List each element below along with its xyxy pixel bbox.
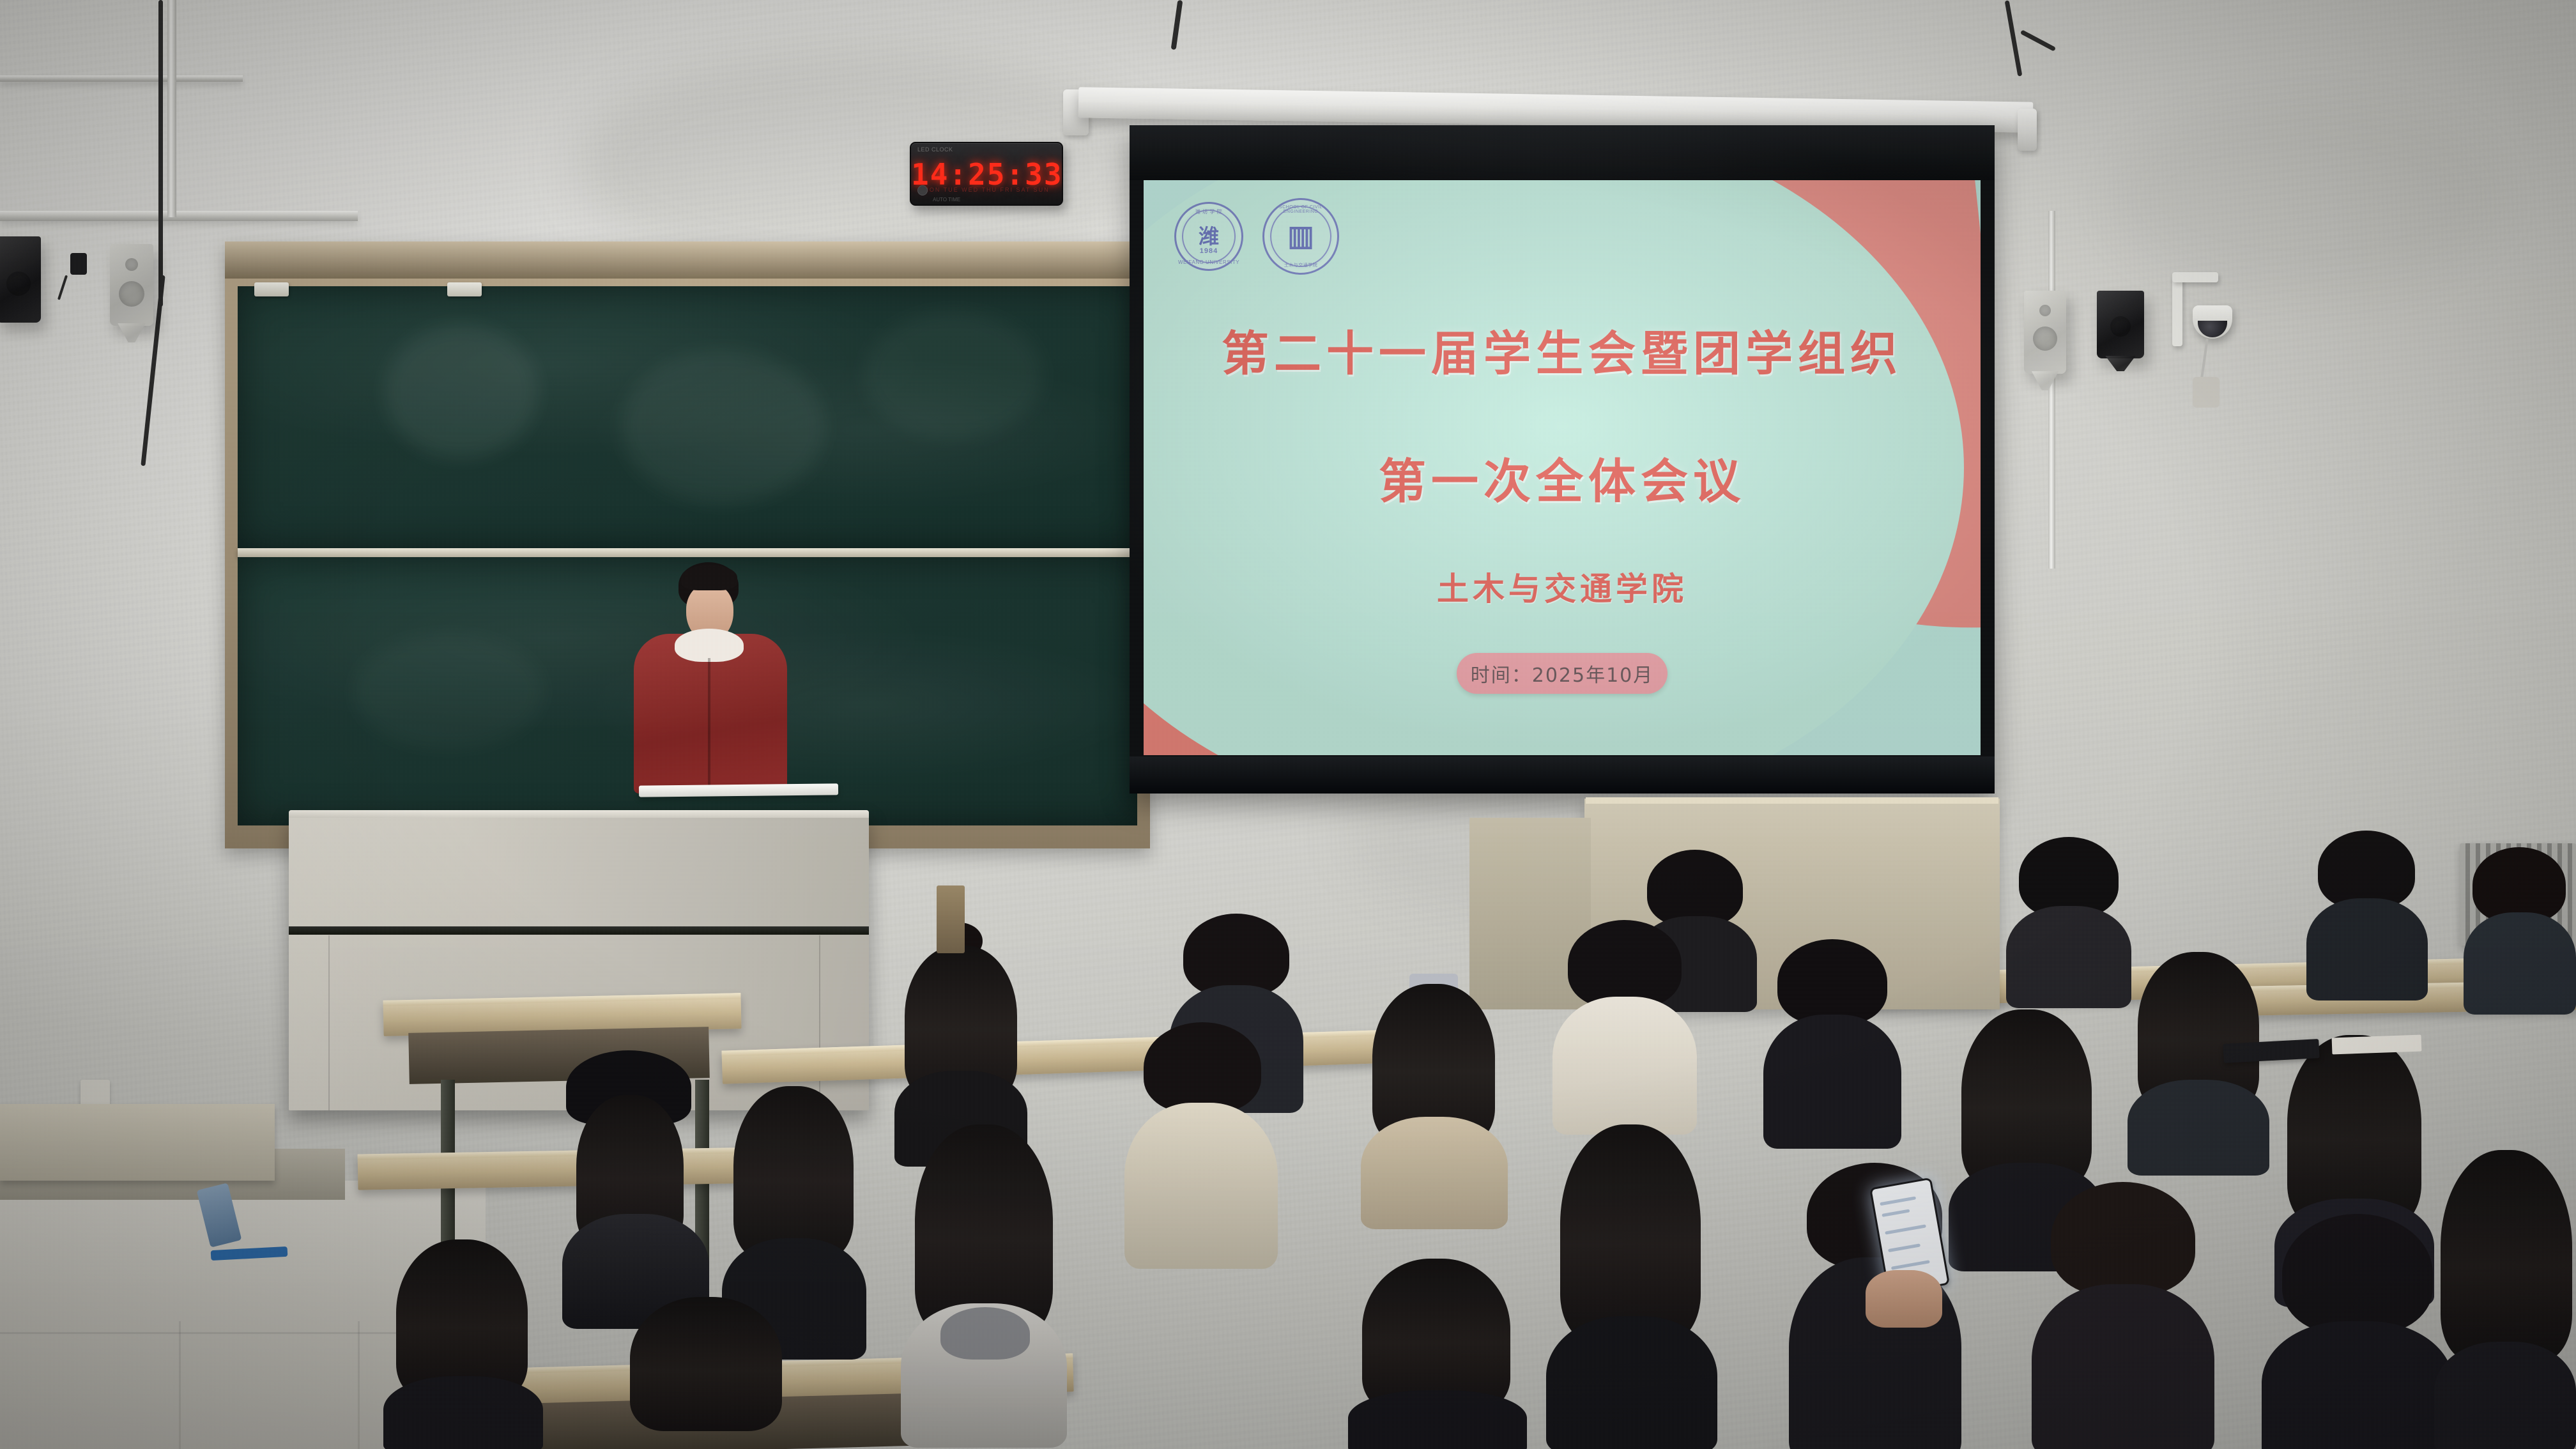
torso-tan (1361, 1117, 1508, 1229)
speaker-left-dark (0, 236, 41, 323)
phone-content-line (1891, 1260, 1930, 1269)
wooden-post (937, 885, 965, 953)
clock-brand-label: LED CLOCK (917, 146, 953, 153)
wall-conduit-upper (0, 75, 243, 82)
civil-transport-college-emblem: SCHOOL OF CIVIL ENGINEERING ▥ 土木与交通学院 (1262, 198, 1339, 275)
emblem-year: 1984 (1176, 247, 1241, 255)
emblem-top-text: SCHOOL OF CIVIL ENGINEERING (1264, 205, 1337, 214)
audience-member (2032, 1182, 2214, 1449)
screen-bottom-band (1130, 756, 1995, 793)
audience-member (1124, 1022, 1278, 1265)
hair (1647, 850, 1743, 926)
speaker-right-light (2024, 291, 2066, 374)
speaker-left-light (110, 244, 153, 326)
screen-roller-cap-right (2018, 109, 2037, 151)
presenter-hood (675, 629, 744, 662)
slide-canvas: 潍 坊 学 院 潍 1984 WEIFANG UNIVERSITY SCHOOL… (1144, 180, 1981, 755)
long-hair (2441, 1150, 2572, 1361)
long-hair (396, 1239, 528, 1399)
hoodie-hood (940, 1307, 1030, 1360)
long-hair (733, 1086, 854, 1259)
speaker-woofer (2033, 326, 2057, 351)
chalk-residue (385, 325, 538, 459)
wall-digital-clock: LED CLOCK 14:25:33 MON TUE WED THU FRI S… (910, 142, 1063, 206)
torso (2032, 1284, 2214, 1449)
floor-tile-line (358, 1321, 360, 1449)
emblem-glyph: 潍 (1199, 226, 1219, 247)
audience-member (2006, 837, 2131, 997)
hair (1777, 939, 1887, 1025)
chalk-residue (621, 350, 825, 503)
torso (383, 1376, 543, 1449)
podium-top-edge (289, 810, 869, 818)
torso (2434, 1342, 2576, 1449)
podium-panel-seam-right (819, 935, 820, 1110)
stage-side-panel-seam (1586, 797, 1998, 804)
blackboard-clip-mid (447, 282, 482, 296)
torso (1546, 1316, 1717, 1449)
slide-date-badge: 时间：2025年10月 (1457, 653, 1667, 694)
presenter-zipper (708, 658, 710, 792)
podium-laptop (639, 783, 838, 797)
long-hair (2287, 1035, 2421, 1227)
torso (2127, 1080, 2269, 1176)
podium-panel-seam (328, 935, 330, 1110)
chalk-residue (353, 634, 544, 749)
wall-conduit-vertical-right (2048, 211, 2055, 569)
torso-white-hoodie (1552, 997, 1697, 1135)
slide-title: 第二十一届学生会暨团学组织 (1144, 316, 1981, 384)
phone-content-line (1880, 1196, 1916, 1206)
audience-member (1546, 1124, 1717, 1449)
audience-member (2262, 1214, 2453, 1449)
audience-member (613, 1297, 799, 1449)
presenter-at-podium (620, 562, 799, 792)
weifang-university-emblem: 潍 坊 学 院 潍 1984 WEIFANG UNIVERSITY (1174, 202, 1243, 271)
hair (1144, 1022, 1261, 1113)
blackboard-top-rail (225, 241, 1150, 279)
wall-conduit-top (0, 211, 358, 221)
torso (1763, 1015, 1901, 1149)
torso (1348, 1390, 1527, 1449)
audience-member (1348, 1259, 1527, 1449)
audience-member (901, 1124, 1067, 1444)
wall-conduit-vertical-left (167, 0, 176, 217)
torso (2262, 1321, 2453, 1449)
slide-organization: 土木与交通学院 (1144, 563, 1981, 609)
long-hair (630, 1297, 782, 1431)
hanging-cable-left (158, 0, 163, 307)
audience-member (1763, 939, 1901, 1144)
emblem-top-text: 潍 坊 学 院 (1176, 208, 1241, 215)
hair (2318, 831, 2415, 908)
audience-member (2464, 847, 2576, 1000)
blackboard-clip-left (254, 282, 289, 296)
floor-step-riser (0, 1104, 275, 1181)
audience-member-with-cap (562, 1054, 709, 1322)
hand-holding-phone (1866, 1270, 1942, 1328)
hair (1183, 914, 1289, 997)
speaker-power-brick-left (70, 253, 87, 275)
chalk-residue (864, 312, 1043, 440)
long-hair (1961, 1009, 2092, 1188)
torso (2006, 906, 2131, 1008)
camera-junction-box (2193, 377, 2219, 408)
presentation-slide: 潍 坊 学 院 潍 1984 WEIFANG UNIVERSITY SCHOOL… (1144, 180, 1981, 755)
speaker-right-dark (2097, 291, 2144, 358)
blackboard-panel-upper (238, 286, 1137, 548)
clock-weekday-labels: MON TUE WED THU FRI SAT SUN (911, 187, 1062, 193)
torso-beige (1124, 1103, 1278, 1269)
desk-papers (2332, 1035, 2422, 1055)
screen-top-band (1130, 125, 1995, 180)
presenter-hair-front (681, 565, 737, 590)
hair (2472, 847, 2566, 923)
slide-subtitle: 第一次全体会议 (1144, 443, 1981, 512)
speaker-woofer (119, 281, 144, 307)
speaker-cone (6, 272, 31, 296)
audience-member (1552, 920, 1697, 1131)
emblem-ring-text: 土木与交通学院 (1264, 262, 1337, 268)
wall-stain-3 (2108, 102, 2504, 294)
emblem-glyph: ▥ (1287, 222, 1314, 250)
phone-content-line (1885, 1224, 1926, 1234)
audience-member (383, 1239, 543, 1449)
hair (2051, 1182, 2195, 1296)
speaker-cone (2110, 316, 2131, 337)
floor-tile-line (179, 1321, 181, 1449)
audience-member (2434, 1150, 2576, 1449)
speaker-tweeter (125, 258, 138, 271)
long-hair (1560, 1124, 1701, 1342)
clock-footer-label: AUTO TIME (933, 197, 960, 203)
emblem-ring-text: WEIFANG UNIVERSITY (1176, 259, 1241, 265)
torso (2306, 898, 2428, 1000)
hair (1568, 920, 1682, 1008)
torso (2464, 912, 2576, 1015)
podium-trim-band (289, 926, 869, 935)
lecture-hall-photo: 潍 坊 学 院 潍 1984 WEIFANG UNIVERSITY SCHOOL… (0, 0, 2576, 1449)
long-hair (1362, 1259, 1510, 1412)
phone-content-line (1888, 1243, 1920, 1252)
audience-member (1361, 984, 1508, 1227)
speaker-tweeter (2039, 305, 2051, 316)
clock-sensor-icon (917, 185, 928, 195)
blackboard-chalk-ledge (238, 548, 1137, 557)
projection-screen: 潍 坊 学 院 潍 1984 WEIFANG UNIVERSITY SCHOOL… (1130, 125, 1995, 793)
camera-mount-arm (2172, 276, 2182, 346)
audience-member (2306, 831, 2428, 984)
hair (2282, 1214, 2433, 1334)
camera-mount-bracket (2172, 272, 2218, 282)
phone-content-line (1882, 1209, 1910, 1217)
